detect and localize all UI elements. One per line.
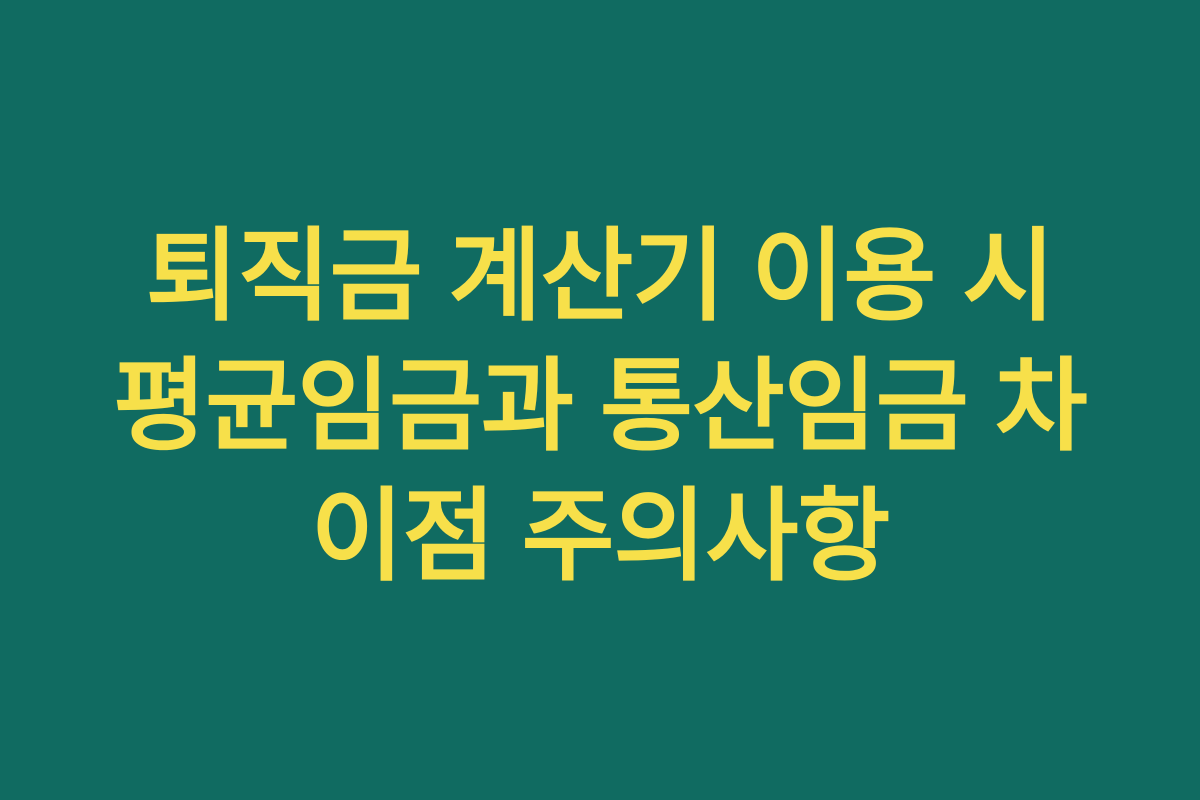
- title-line-2: 평균임금과 통산임금 차: [113, 342, 1086, 472]
- thumbnail-canvas: 퇴직금 계산기 이용 시 평균임금과 통산임금 차 이점 주의사항: [0, 0, 1200, 800]
- title-line-1: 퇴직금 계산기 이용 시: [146, 212, 1054, 342]
- title-line-3: 이점 주의사항: [311, 472, 890, 602]
- page-title: 퇴직금 계산기 이용 시 평균임금과 통산임금 차 이점 주의사항: [20, 212, 1180, 602]
